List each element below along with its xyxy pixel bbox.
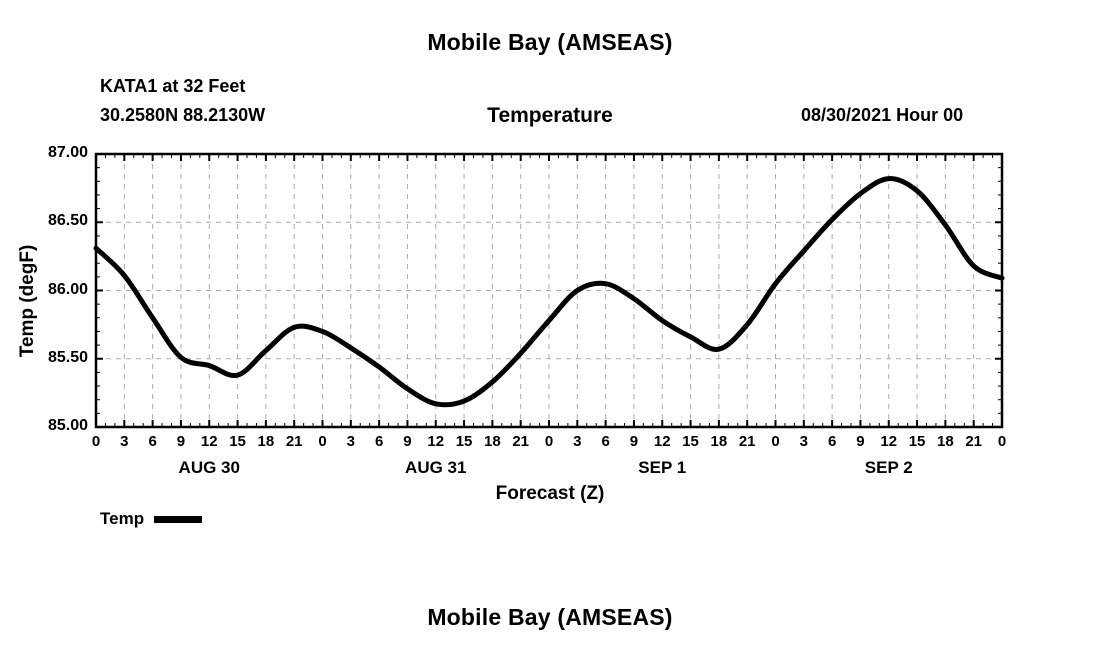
x-tick-label: 0	[92, 433, 100, 450]
x-tick-label: 21	[286, 433, 303, 450]
y-axis-tick-labels: 85.0085.5086.0086.5087.00	[0, 0, 88, 650]
y-tick-label: 85.50	[2, 349, 88, 367]
legend: Temp	[100, 509, 202, 529]
x-tick-label: 12	[880, 433, 897, 450]
x-axis-day-label: AUG 30	[179, 458, 240, 478]
x-tick-label: 21	[739, 433, 756, 450]
x-tick-label: 15	[456, 433, 473, 450]
x-axis-day-label: SEP 2	[865, 458, 913, 478]
x-tick-label: 18	[711, 433, 728, 450]
x-tick-label: 6	[601, 433, 609, 450]
x-tick-label: 0	[318, 433, 326, 450]
x-tick-label: 6	[828, 433, 836, 450]
chart-title-bottom: Mobile Bay (AMSEAS)	[0, 604, 1100, 631]
x-tick-label: 12	[427, 433, 444, 450]
x-tick-label: 15	[229, 433, 246, 450]
x-tick-label: 3	[573, 433, 581, 450]
x-tick-label: 3	[120, 433, 128, 450]
x-tick-label: 6	[375, 433, 383, 450]
x-tick-label: 21	[512, 433, 529, 450]
y-tick-label: 87.00	[2, 144, 88, 162]
temp-series-line	[96, 179, 1002, 405]
x-tick-label: 12	[201, 433, 218, 450]
y-tick-label: 86.50	[2, 212, 88, 230]
x-tick-label: 18	[937, 433, 954, 450]
y-tick-label: 86.00	[2, 281, 88, 299]
x-tick-label: 9	[856, 433, 864, 450]
legend-label-temp: Temp	[100, 509, 144, 529]
y-tick-label: 85.00	[2, 417, 88, 435]
x-tick-label: 9	[630, 433, 638, 450]
x-tick-label: 6	[148, 433, 156, 450]
x-tick-label: 9	[177, 433, 185, 450]
x-tick-label: 15	[909, 433, 926, 450]
x-axis-day-label: SEP 1	[638, 458, 686, 478]
x-tick-label: 0	[771, 433, 779, 450]
x-tick-label: 21	[965, 433, 982, 450]
x-tick-label: 9	[403, 433, 411, 450]
x-tick-label: 3	[347, 433, 355, 450]
x-tick-label: 18	[484, 433, 501, 450]
x-tick-label: 18	[258, 433, 275, 450]
forecast-chart-figure: Mobile Bay (AMSEAS) KATA1 at 32 Feet 30.…	[0, 0, 1100, 650]
legend-swatch-temp	[154, 516, 202, 523]
x-axis-day-label: AUG 31	[405, 458, 466, 478]
plot-area	[0, 0, 1100, 650]
x-tick-label: 12	[654, 433, 671, 450]
x-tick-label: 3	[800, 433, 808, 450]
x-tick-label: 15	[682, 433, 699, 450]
x-tick-label: 0	[998, 433, 1006, 450]
grid-lines	[96, 154, 1002, 427]
x-tick-label: 0	[545, 433, 553, 450]
